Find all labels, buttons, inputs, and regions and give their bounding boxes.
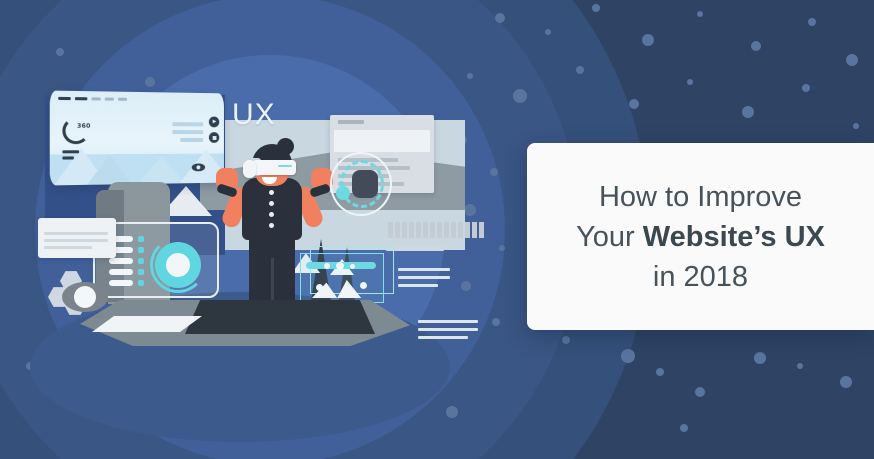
strip-cell xyxy=(472,222,477,238)
detail-line-2 xyxy=(398,276,450,279)
title-line-1: How to Improve xyxy=(599,177,802,217)
background-dot xyxy=(629,99,639,109)
strip-cell xyxy=(451,222,456,238)
strip-cell xyxy=(416,222,421,238)
toggle-pill xyxy=(109,280,133,286)
floating-card-sun xyxy=(316,284,323,291)
shirt-button-row xyxy=(269,190,274,234)
background-dot xyxy=(797,363,803,369)
toggle-pill xyxy=(109,269,133,275)
toggle-row[interactable] xyxy=(109,269,144,275)
background-dot xyxy=(840,376,852,388)
ux-watermark-label: UX xyxy=(232,98,276,132)
controller-body[interactable] xyxy=(352,170,378,198)
screen-bar-1 xyxy=(62,150,79,153)
strip-cell xyxy=(444,222,449,238)
toggle-indicator xyxy=(138,258,144,264)
background-dot xyxy=(853,123,859,129)
strip-cell xyxy=(479,222,484,238)
toggle-row[interactable] xyxy=(109,280,144,286)
title-line-2-plain: Your xyxy=(576,221,643,253)
mock-strip-panel xyxy=(388,222,484,238)
left-card-line-3 xyxy=(44,246,92,249)
title-line-3: in 2018 xyxy=(653,257,748,297)
screen-mountain-2 xyxy=(87,151,132,185)
title-line-2: Your Website’s UX xyxy=(576,217,825,257)
strip-cell xyxy=(465,222,470,238)
shirt-button xyxy=(269,223,274,228)
strip-cell xyxy=(402,222,407,238)
strip-cell xyxy=(388,222,393,238)
screen-mountain-3 xyxy=(138,153,185,184)
controller-indicator-dot xyxy=(336,186,350,200)
vr-headset-visor xyxy=(252,160,296,175)
detail-line-6 xyxy=(418,336,468,339)
mock-panel-title xyxy=(338,120,364,124)
toggle-indicator xyxy=(138,247,144,253)
camera-lens-element xyxy=(62,282,108,312)
detail-line-5 xyxy=(418,328,478,331)
left-card-line-2 xyxy=(44,239,108,242)
shirt-button xyxy=(269,212,274,217)
toggle-indicator xyxy=(138,236,144,242)
blog-header-banner: 360 UX xyxy=(0,0,874,459)
toolbar-item-4 xyxy=(105,98,114,101)
background-dot xyxy=(642,34,654,46)
strip-cell xyxy=(437,222,442,238)
title-line-2-bold: Website’s UX xyxy=(643,221,825,253)
background-dot xyxy=(802,84,810,92)
background-dot xyxy=(576,66,584,74)
mock-strip-base xyxy=(386,246,444,251)
background-dot xyxy=(742,106,754,118)
curved-360-screen[interactable]: 360 xyxy=(50,91,224,186)
headphone-icon xyxy=(243,160,256,178)
background-dot xyxy=(592,4,600,12)
background-dot xyxy=(656,368,664,376)
background-dot xyxy=(754,352,766,364)
toolbar-item-3 xyxy=(91,97,100,100)
screen-bar-2 xyxy=(62,156,73,159)
strip-cell xyxy=(409,222,414,238)
background-dot xyxy=(697,11,703,17)
screen-text-line-2 xyxy=(172,130,203,134)
floating-card-dot xyxy=(336,262,344,270)
toggle-pill xyxy=(109,258,133,264)
background-dot xyxy=(687,79,693,85)
toggle-row[interactable] xyxy=(109,258,144,264)
left-card-line-1 xyxy=(44,232,108,235)
left-info-card[interactable] xyxy=(38,218,116,258)
toolbar-item-1 xyxy=(58,97,71,100)
strip-cell xyxy=(458,222,463,238)
toolbar-item-5 xyxy=(118,98,127,101)
shirt-button xyxy=(269,201,274,206)
three-sixty-arc-icon xyxy=(62,117,89,144)
screen-toolbar xyxy=(58,97,127,101)
title-card: How to Improve Your Website’s UX in 2018 xyxy=(527,143,874,330)
background-dot xyxy=(621,349,635,363)
three-sixty-label: 360 xyxy=(77,123,91,130)
floating-card-dot xyxy=(324,263,330,269)
background-dot xyxy=(680,424,688,432)
strip-cell xyxy=(395,222,400,238)
vr-illustration: 360 UX xyxy=(0,0,530,459)
detail-line-4 xyxy=(418,320,478,323)
detail-line-1 xyxy=(398,268,450,271)
background-dot xyxy=(695,387,705,397)
background-dot xyxy=(808,18,816,26)
background-dot xyxy=(846,54,858,66)
background-dot xyxy=(751,41,761,51)
screen-text-line-3 xyxy=(180,138,203,142)
floating-card-dot xyxy=(350,264,355,269)
stage-platform-shadow xyxy=(185,300,375,334)
strip-cell xyxy=(423,222,428,238)
floating-card-moon xyxy=(360,282,367,289)
strip-cell xyxy=(430,222,435,238)
screen-text-line-1 xyxy=(172,122,203,126)
screen-play-button[interactable] xyxy=(209,117,219,128)
toggle-indicator xyxy=(138,269,144,275)
background-dot xyxy=(562,336,570,344)
shirt-button xyxy=(269,190,274,195)
detail-line-3 xyxy=(398,284,438,287)
dial-knob[interactable] xyxy=(155,242,201,288)
background-dot xyxy=(545,29,551,35)
toggle-indicator xyxy=(138,280,144,286)
toolbar-item-2 xyxy=(75,97,87,100)
